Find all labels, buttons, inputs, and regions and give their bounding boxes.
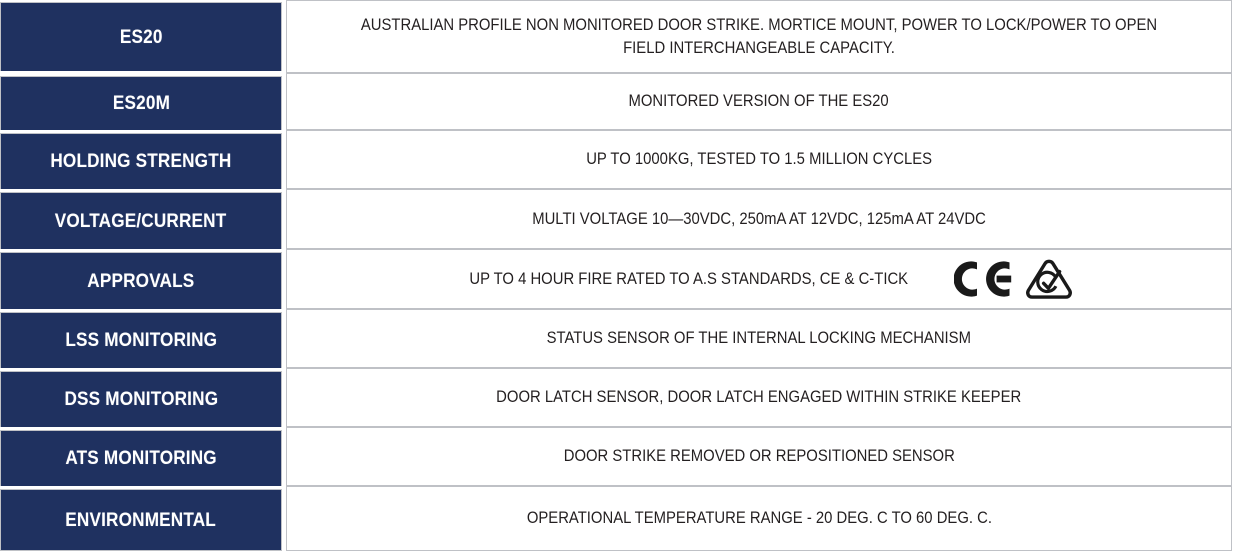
spec-label-cell: LSS MONITORING (0, 312, 282, 368)
description-inner: UP TO 4 HOUR FIRE RATED TO A.S STANDARDS… (445, 259, 1073, 299)
spec-description-text: DOOR STRIKE REMOVED OR REPOSITIONED SENS… (563, 445, 954, 467)
spec-description-text: UP TO 1000KG, TESTED TO 1.5 MILLION CYCL… (586, 148, 932, 170)
spec-label-cell: ES20 (0, 2, 282, 71)
rcm-c-tick-mark-icon (1025, 259, 1073, 299)
spec-label-cell: ENVIRONMENTAL (0, 489, 282, 551)
table-row: APPROVALS UP TO 4 HOUR FIRE RATED TO A.S… (0, 249, 1241, 309)
table-right-edge-padding (1232, 130, 1241, 189)
table-row: VOLTAGE/CURRENT MULTI VOLTAGE 10—30VDC, … (0, 189, 1241, 249)
table-right-edge-padding (1232, 0, 1241, 73)
spec-description-text: AUSTRALIAN PROFILE NON MONITORED DOOR ST… (347, 14, 1171, 59)
spec-label-text: ATS MONITORING (65, 447, 217, 469)
spec-description-text: UP TO 4 HOUR FIRE RATED TO A.S STANDARDS… (469, 268, 908, 290)
spec-description-cell: MONITORED VERSION OF THE ES20 (286, 73, 1232, 130)
table-right-edge-padding (1232, 249, 1241, 309)
table-right-edge-padding (1232, 189, 1241, 249)
spec-label-cell: APPROVALS (0, 252, 282, 309)
spec-label-text: APPROVALS (87, 270, 194, 292)
description-inner: AUSTRALIAN PROFILE NON MONITORED DOOR ST… (301, 14, 1217, 59)
table-right-edge-padding (1232, 368, 1241, 427)
table-right-edge-padding (1232, 427, 1241, 486)
specification-table: ES20 AUSTRALIAN PROFILE NON MONITORED DO… (0, 0, 1241, 555)
table-row: ENVIRONMENTAL OPERATIONAL TEMPERATURE RA… (0, 486, 1241, 555)
spec-description-cell: MULTI VOLTAGE 10—30VDC, 250mA AT 12VDC, … (286, 189, 1232, 249)
spec-description-cell: UP TO 4 HOUR FIRE RATED TO A.S STANDARDS… (286, 249, 1232, 309)
table-row: LSS MONITORING STATUS SENSOR OF THE INTE… (0, 309, 1241, 368)
spec-description-cell: DOOR STRIKE REMOVED OR REPOSITIONED SENS… (286, 427, 1232, 486)
description-inner: STATUS SENSOR OF THE INTERNAL LOCKING ME… (523, 327, 995, 349)
table-row: ATS MONITORING DOOR STRIKE REMOVED OR RE… (0, 427, 1241, 486)
spec-label-cell: VOLTAGE/CURRENT (0, 192, 282, 249)
spec-label-text: ENVIRONMENTAL (66, 509, 217, 531)
spec-description-cell: AUSTRALIAN PROFILE NON MONITORED DOOR ST… (286, 0, 1232, 73)
spec-label-text: DSS MONITORING (64, 388, 218, 410)
spec-description-text: STATUS SENSOR OF THE INTERNAL LOCKING ME… (547, 327, 971, 349)
spec-description-cell: STATUS SENSOR OF THE INTERNAL LOCKING ME… (286, 309, 1232, 368)
table-right-edge-padding (1232, 486, 1241, 555)
table-right-edge-padding (1232, 309, 1241, 368)
description-inner: OPERATIONAL TEMPERATURE RANGE - 20 DEG. … (501, 507, 1018, 529)
spec-label-text: ES20 (120, 26, 163, 48)
spec-description-text: OPERATIONAL TEMPERATURE RANGE - 20 DEG. … (526, 507, 991, 529)
table-row: DSS MONITORING DOOR LATCH SENSOR, DOOR L… (0, 368, 1241, 427)
spec-description-cell: UP TO 1000KG, TESTED TO 1.5 MILLION CYCL… (286, 130, 1232, 189)
spec-label-text: VOLTAGE/CURRENT (55, 210, 227, 232)
table-row: ES20M MONITORED VERSION OF THE ES20 (0, 73, 1241, 130)
spec-description-text: MULTI VOLTAGE 10—30VDC, 250mA AT 12VDC, … (532, 208, 986, 230)
spec-label-text: LSS MONITORING (65, 329, 217, 351)
spec-label-text: HOLDING STRENGTH (50, 150, 231, 172)
spec-description-text: MONITORED VERSION OF THE ES20 (629, 90, 889, 112)
spec-label-cell: ATS MONITORING (0, 430, 282, 486)
spec-description-cell: DOOR LATCH SENSOR, DOOR LATCH ENGAGED WI… (286, 368, 1232, 427)
description-inner: UP TO 1000KG, TESTED TO 1.5 MILLION CYCL… (567, 148, 951, 170)
approval-marks (954, 259, 1073, 299)
spec-label-text: ES20M (112, 92, 169, 114)
spec-label-cell: DSS MONITORING (0, 371, 282, 427)
table-row: HOLDING STRENGTH UP TO 1000KG, TESTED TO… (0, 130, 1241, 189)
description-inner: MONITORED VERSION OF THE ES20 (614, 90, 903, 112)
spec-label-cell: ES20M (0, 76, 282, 130)
description-inner: MULTI VOLTAGE 10—30VDC, 250mA AT 12VDC, … (507, 208, 1011, 230)
spec-label-cell: HOLDING STRENGTH (0, 133, 282, 189)
ce-mark-icon (954, 259, 1012, 299)
table-row: ES20 AUSTRALIAN PROFILE NON MONITORED DO… (0, 0, 1241, 73)
description-inner: DOOR STRIKE REMOVED OR REPOSITIONED SENS… (542, 445, 977, 467)
description-inner: DOOR LATCH SENSOR, DOOR LATCH ENGAGED WI… (467, 386, 1050, 408)
spec-description-text: DOOR LATCH SENSOR, DOOR LATCH ENGAGED WI… (496, 386, 1021, 408)
table-right-edge-padding (1232, 73, 1241, 130)
spec-description-cell: OPERATIONAL TEMPERATURE RANGE - 20 DEG. … (286, 486, 1232, 551)
